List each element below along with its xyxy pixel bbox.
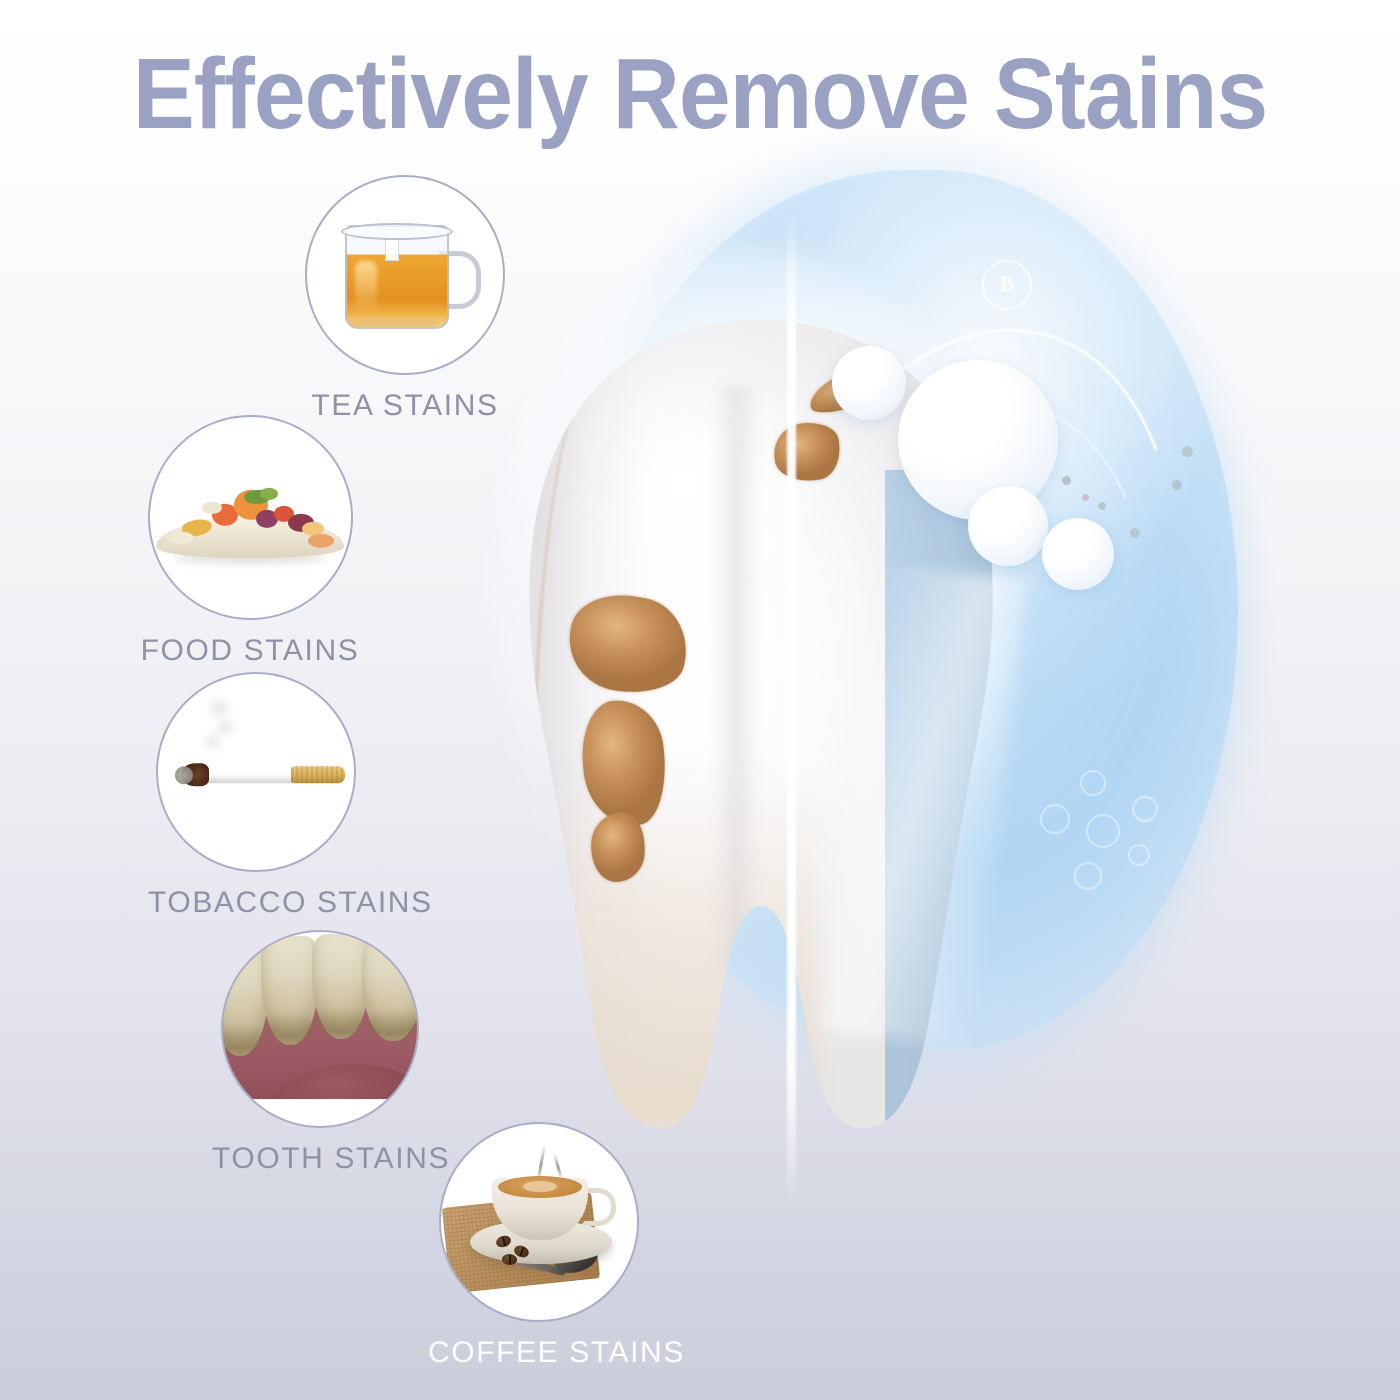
micro-particle: [1130, 528, 1140, 538]
micro-particle: [1172, 480, 1182, 490]
lit-cigarette-icon: [165, 760, 347, 786]
coffee-stain-circle[interactable]: [439, 1122, 639, 1322]
stain-node-food[interactable]: FOOD STAINS: [140, 415, 360, 668]
stain-node-coffee[interactable]: COFFEE STAINS: [428, 1122, 650, 1370]
foam-bubble: [832, 346, 906, 420]
micro-particle: [1182, 446, 1193, 457]
stain-label-tooth: TOOTH STAINS: [212, 1142, 427, 1176]
foam-bubble: [1042, 518, 1114, 590]
stain-label-coffee: COFFEE STAINS: [428, 1336, 650, 1370]
foam-bubble: [968, 486, 1048, 566]
stain-label-food: FOOD STAINS: [140, 634, 360, 668]
stain-node-tea[interactable]: TEA STAINS: [300, 175, 510, 423]
stain-node-tooth[interactable]: TOOTH STAINS: [212, 930, 427, 1176]
molecule-watermark-icon: [1040, 770, 1170, 900]
micro-particle: [1098, 502, 1106, 510]
stain-label-tobacco: TOBACCO STAINS: [148, 886, 363, 920]
ingredient-badge-icon: B: [982, 260, 1032, 310]
tooth-stain-circle[interactable]: [221, 930, 419, 1128]
page-title: Effectively Remove Stains: [49, 42, 1351, 147]
micro-particle: [1062, 476, 1071, 485]
food-pile-icon: [156, 473, 344, 565]
tobacco-stain-circle[interactable]: [156, 672, 356, 872]
stained-teeth-icon: [223, 932, 417, 1126]
stain-node-tobacco[interactable]: TOBACCO STAINS: [148, 672, 363, 920]
before-after-split-line: [787, 210, 796, 1210]
product-benefit-poster: Effectively Remove Stains: [0, 0, 1400, 1400]
coffee-cup-icon: [444, 1150, 634, 1300]
tea-glass-icon: [339, 219, 471, 331]
tea-stain-circle[interactable]: [305, 175, 505, 375]
micro-particle: [1082, 494, 1089, 501]
split-tooth-artwork: B: [430, 150, 1250, 1210]
food-stain-circle[interactable]: [148, 415, 353, 620]
